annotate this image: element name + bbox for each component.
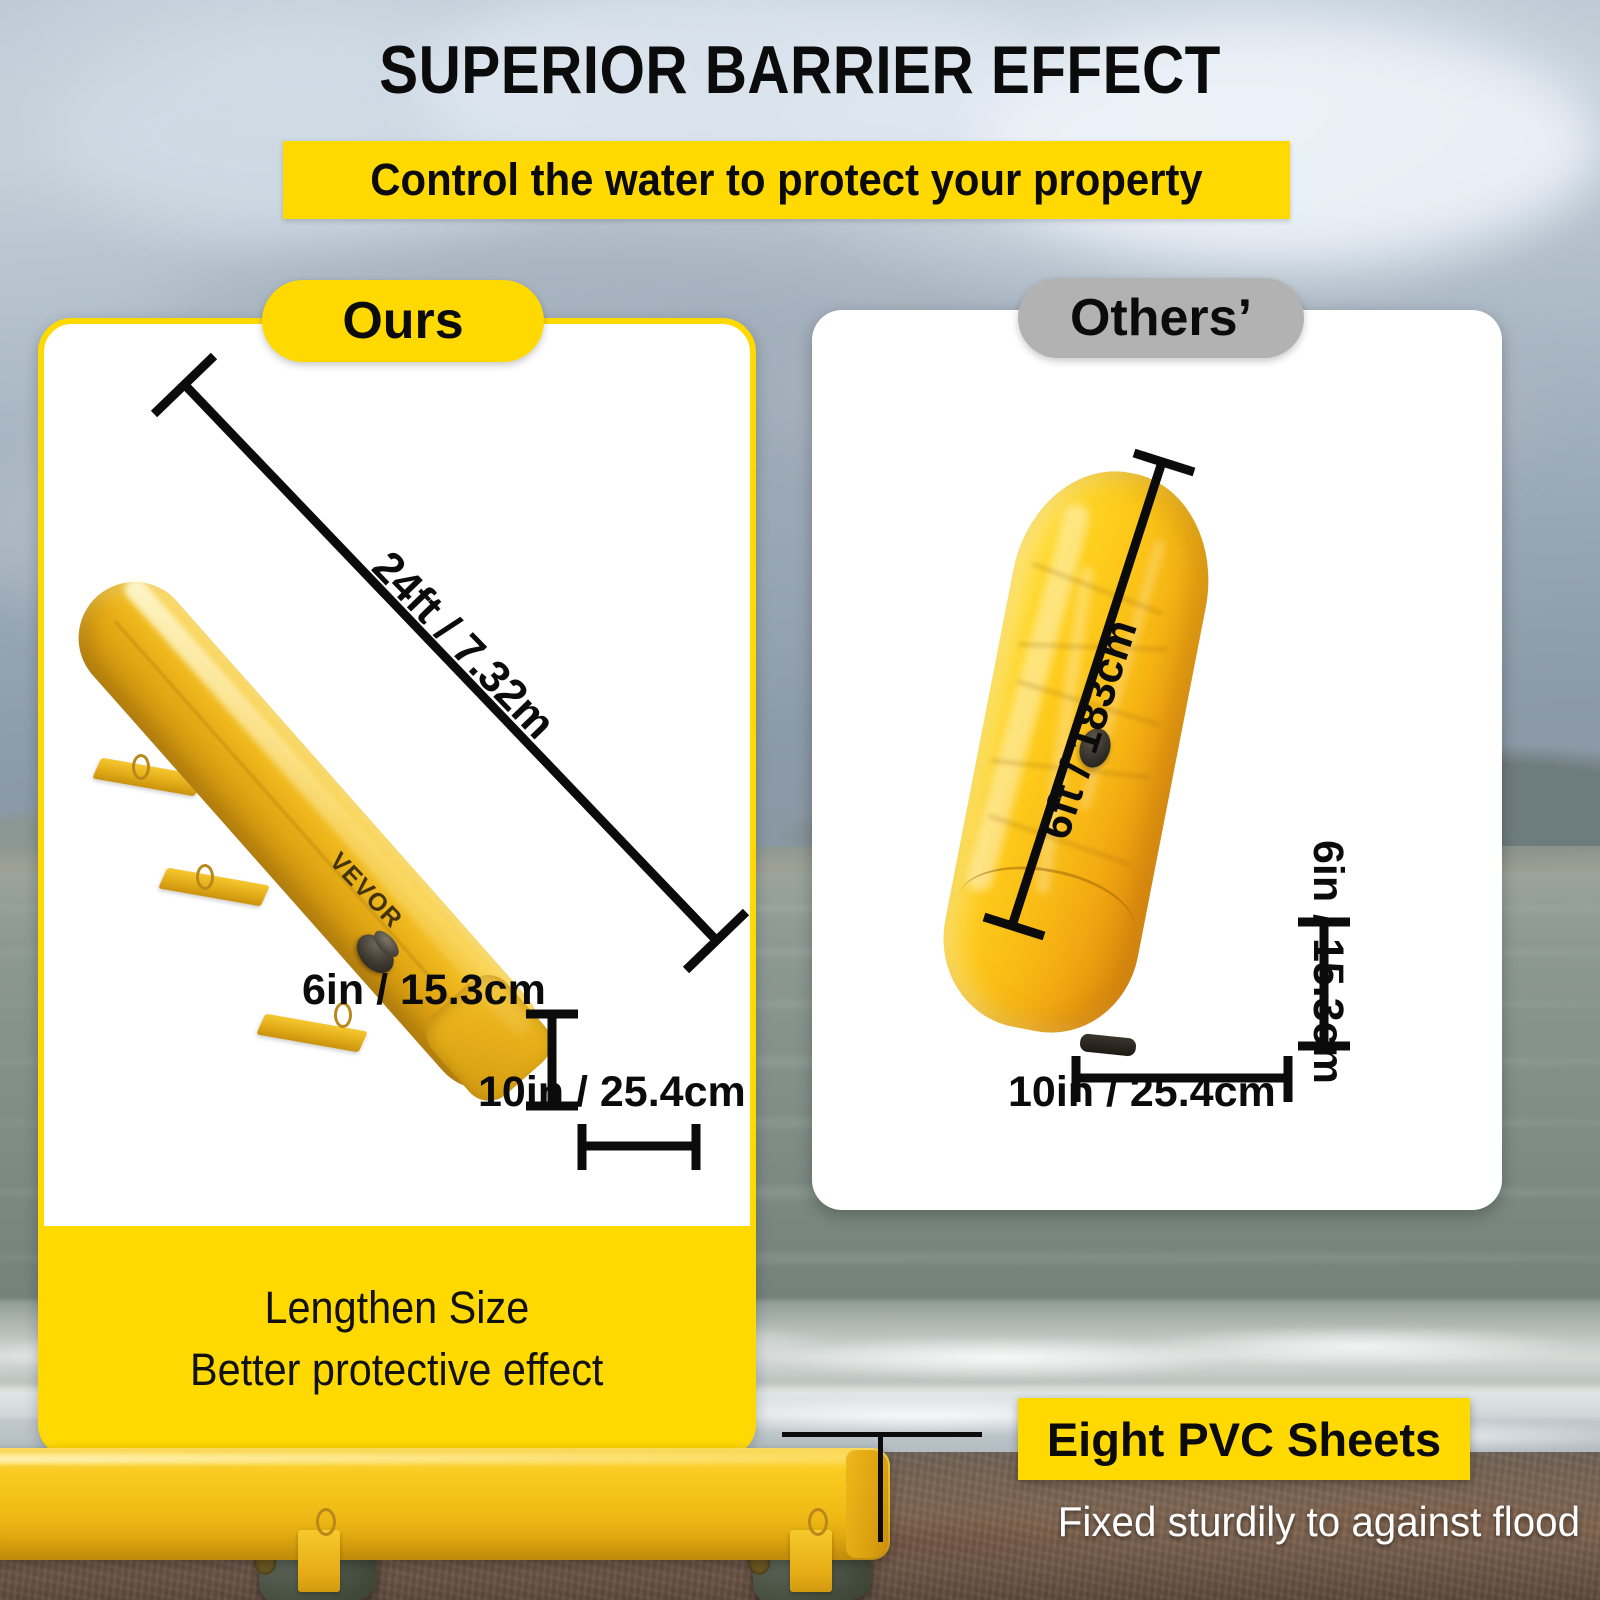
- ours-badge: Ours: [262, 280, 544, 362]
- pvc-callout-badge: Eight PVC Sheets: [1018, 1398, 1470, 1480]
- d-ring-icon: [316, 1508, 336, 1536]
- infographic-stage: SUPERIOR BARRIER EFFECT Control the wate…: [0, 0, 1600, 1600]
- subtitle-banner: Control the water to protect your proper…: [283, 141, 1290, 219]
- subtitle-text: Control the water to protect your proper…: [318, 141, 1255, 219]
- pvc-callout-subtext: Fixed sturdily to against flood: [966, 1494, 1580, 1550]
- ours-footer-line-2: Better protective effect: [190, 1339, 603, 1401]
- ours-footer-line-1: Lengthen Size: [265, 1277, 530, 1339]
- pvc-sheet: [790, 1530, 832, 1592]
- ours-width-label: 10in / 25.4cm: [478, 1068, 746, 1117]
- pvc-callout-label: Eight PVC Sheets: [1047, 1412, 1441, 1467]
- d-ring-icon: [808, 1508, 828, 1536]
- others-badge: Others’: [1018, 278, 1304, 358]
- others-badge-label: Others’: [1070, 288, 1252, 348]
- others-height-label: 6in / 15.3cm: [1303, 840, 1352, 1084]
- ours-height-label: 6in / 15.3cm: [302, 966, 546, 1015]
- ours-footer: Lengthen Size Better protective effect: [44, 1226, 750, 1452]
- hero-flood-barrier: [0, 1448, 890, 1560]
- ours-badge-label: Ours: [342, 291, 463, 351]
- others-width-label: 10in / 25.4cm: [1008, 1068, 1276, 1117]
- page-title: SUPERIOR BARRIER EFFECT: [112, 34, 1488, 106]
- callout-leader-line: [782, 1432, 982, 1437]
- ours-card: VEVOR: [38, 318, 756, 1458]
- pvc-sheet: [298, 1530, 340, 1592]
- callout-leader-line: [878, 1432, 883, 1542]
